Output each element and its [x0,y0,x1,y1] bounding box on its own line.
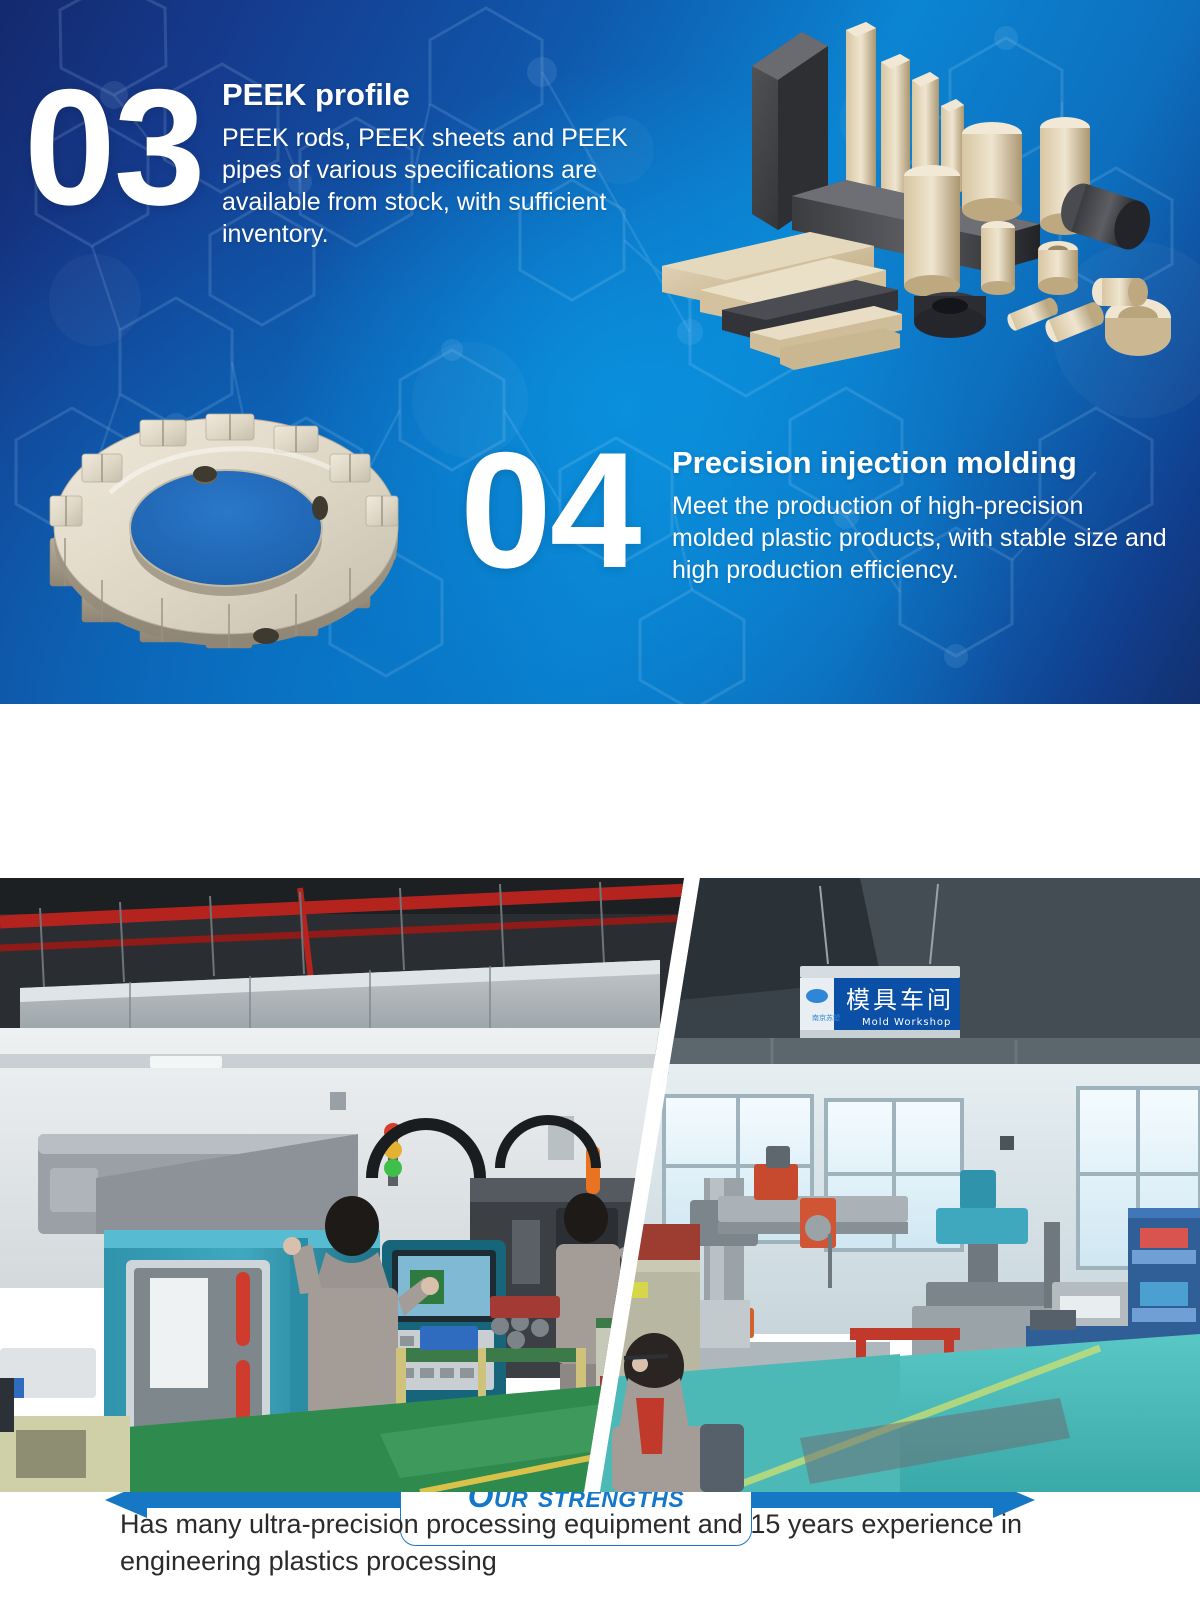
section-03-text-block: PEEK profile PEEK rods, PEEK sheets and … [222,78,662,250]
svg-text:Mold Workshop: Mold Workshop [862,1017,951,1028]
product-promo-page: 03 PEEK profile PEEK rods, PEEK sheets a… [0,0,1200,1616]
cnc-machining-workshop-photo [0,878,690,1492]
section-04-body: Meet the production of high-precision mo… [672,490,1172,586]
svg-text:模具车间: 模具车间 [846,986,954,1014]
strengths-banner: Our strengths [0,704,1200,878]
peek-gear-ring-photo [30,398,430,690]
section-03-body: PEEK rods, PEEK sheets and PEEK pipes of… [222,122,662,250]
workshop-photo-gallery: 南京苏塑 模具车间 Mold Workshop [0,878,1200,1492]
section-04-title: Precision injection molding [672,446,1172,480]
section-number-04: 04 [460,438,640,583]
section-number-03: 03 [24,75,204,220]
section-04-text-block: Precision injection molding Meet the pro… [672,446,1172,586]
peek-profile-products-photo [660,18,1200,380]
svg-text:南京苏塑: 南京苏塑 [812,1013,840,1022]
hero-blue-panel: 03 PEEK profile PEEK rods, PEEK sheets a… [0,0,1200,704]
footer-caption: Has many ultra-precision processing equi… [120,1506,1110,1581]
section-03-title: PEEK profile [222,78,662,112]
